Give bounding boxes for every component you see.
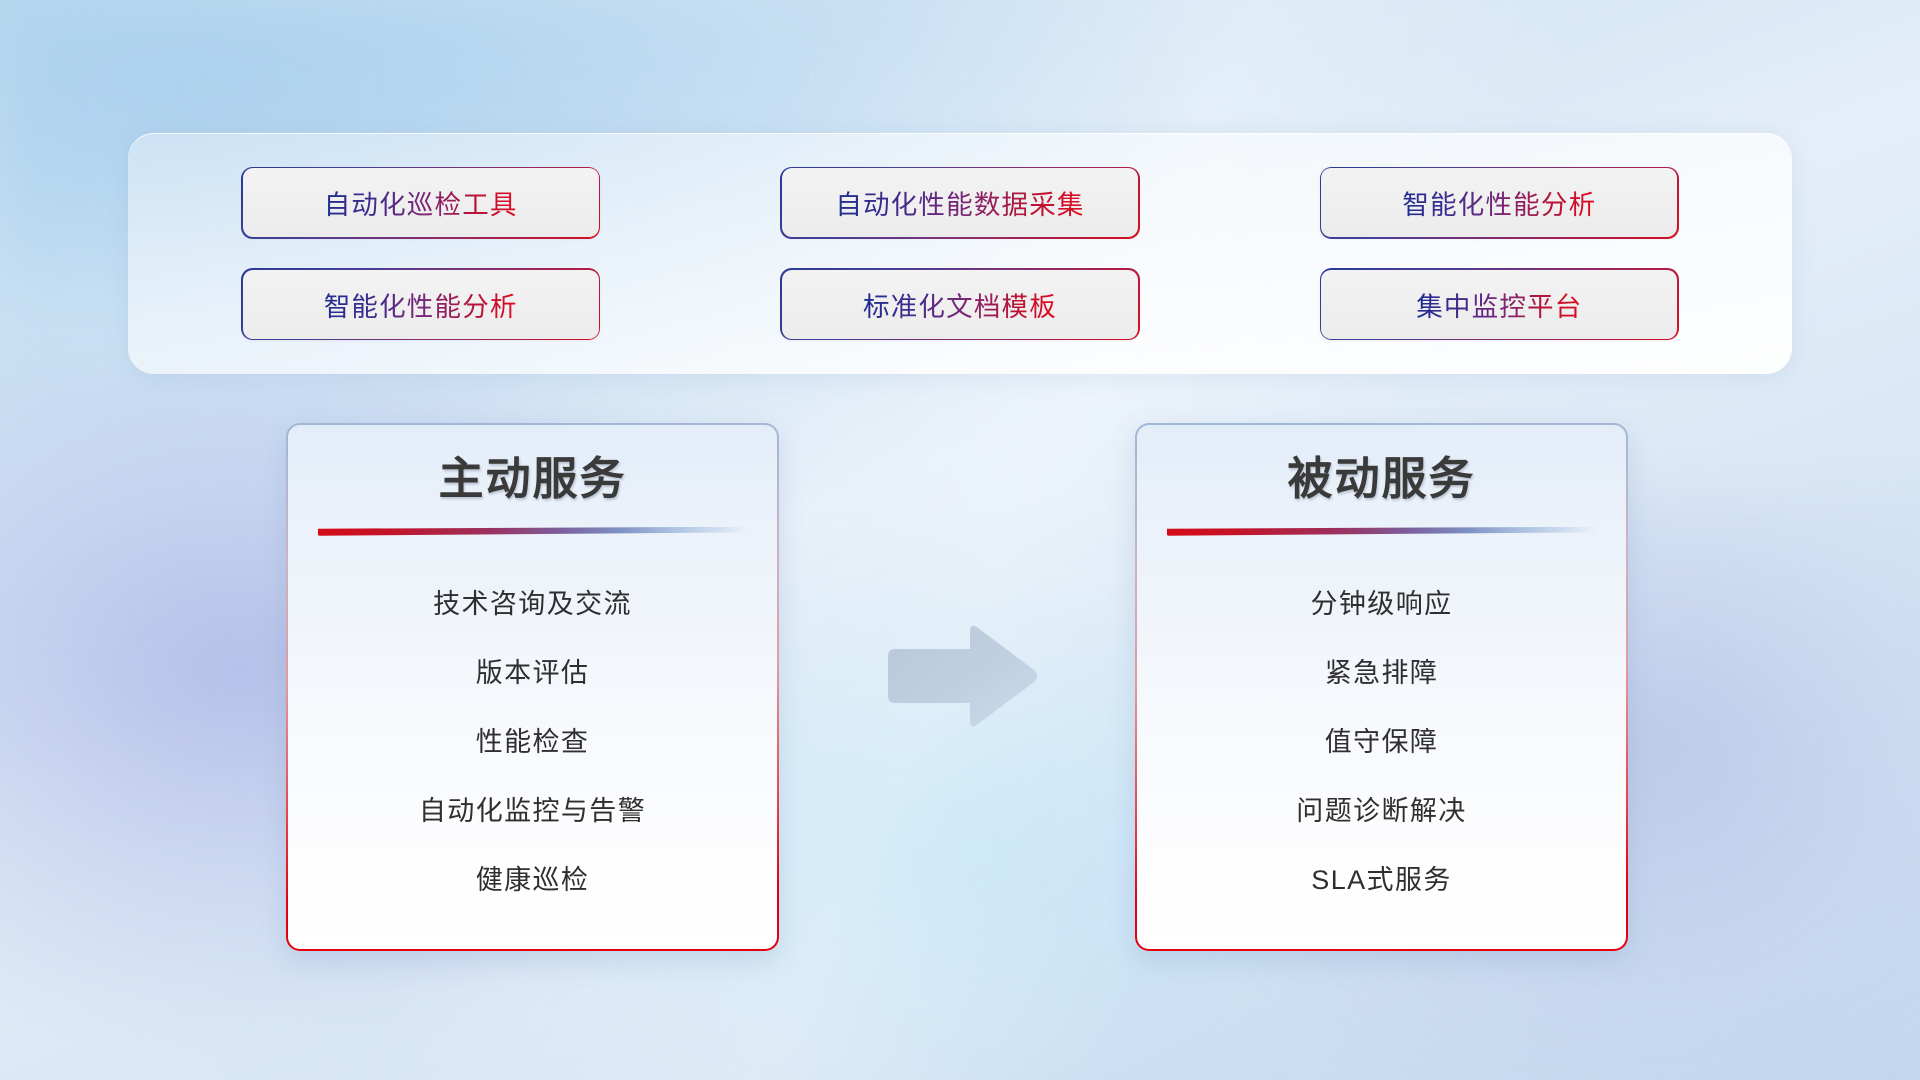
service-item: 分钟级响应 (1311, 570, 1453, 639)
service-item: 性能检查 (476, 708, 590, 777)
capability-pill-label: 自动化巡检工具 (324, 183, 518, 222)
service-item: 技术咨询及交流 (433, 570, 632, 639)
capability-pill-label: 标准化文档模板 (863, 285, 1057, 324)
service-item: 紧急排障 (1325, 639, 1439, 708)
capability-pill-centralized-monitoring-platform[interactable]: 集中监控平台 (1321, 270, 1677, 339)
capability-pill-panel: 自动化巡检工具 自动化性能数据采集 智能化性能分析 智能化性能分析 标准化文档模… (128, 133, 1792, 374)
service-card-title: 主动服务 (438, 453, 626, 505)
capability-pill-label: 自动化性能数据采集 (835, 183, 1084, 222)
service-card-title: 被动服务 (1287, 453, 1475, 505)
capability-pill-label: 集中监控平台 (1416, 285, 1582, 324)
service-item: 问题诊断解决 (1296, 777, 1466, 846)
service-card-active: 主动服务 技术咨询及交流 版本评估 性能检查 自动化监控与告警 健康巡检 (286, 423, 779, 951)
capability-pill-intelligent-performance-analysis-2[interactable]: 智能化性能分析 (243, 270, 599, 339)
service-card-passive: 被动服务 分钟级响应 紧急排障 值守保障 问题诊断解决 SLA式服务 (1135, 423, 1628, 951)
service-card-body: 主动服务 技术咨询及交流 版本评估 性能检查 自动化监控与告警 健康巡检 (288, 425, 777, 949)
service-item-list: 技术咨询及交流 版本评估 性能检查 自动化监控与告警 健康巡检 (288, 570, 777, 915)
service-card-body: 被动服务 分钟级响应 紧急排障 值守保障 问题诊断解决 SLA式服务 (1137, 425, 1626, 949)
arrow-right-icon (882, 622, 1040, 730)
service-item: 健康巡检 (476, 846, 590, 915)
capability-pill-automated-performance-collection[interactable]: 自动化性能数据采集 (782, 168, 1138, 237)
service-item: SLA式服务 (1311, 846, 1451, 915)
capability-pill-standard-document-template[interactable]: 标准化文档模板 (782, 270, 1138, 339)
service-item: 版本评估 (476, 639, 590, 708)
capability-pill-automated-inspection-tool[interactable]: 自动化巡检工具 (243, 168, 599, 237)
capability-pill-label: 智能化性能分析 (324, 285, 518, 324)
service-item: 值守保障 (1325, 708, 1439, 777)
title-underline-rule (318, 527, 748, 536)
service-item-list: 分钟级响应 紧急排障 值守保障 问题诊断解决 SLA式服务 (1137, 570, 1626, 915)
title-underline-rule (1167, 527, 1597, 536)
capability-pill-intelligent-performance-analysis-1[interactable]: 智能化性能分析 (1321, 168, 1677, 237)
service-item: 自动化监控与告警 (419, 777, 646, 846)
capability-pill-label: 智能化性能分析 (1402, 183, 1596, 222)
